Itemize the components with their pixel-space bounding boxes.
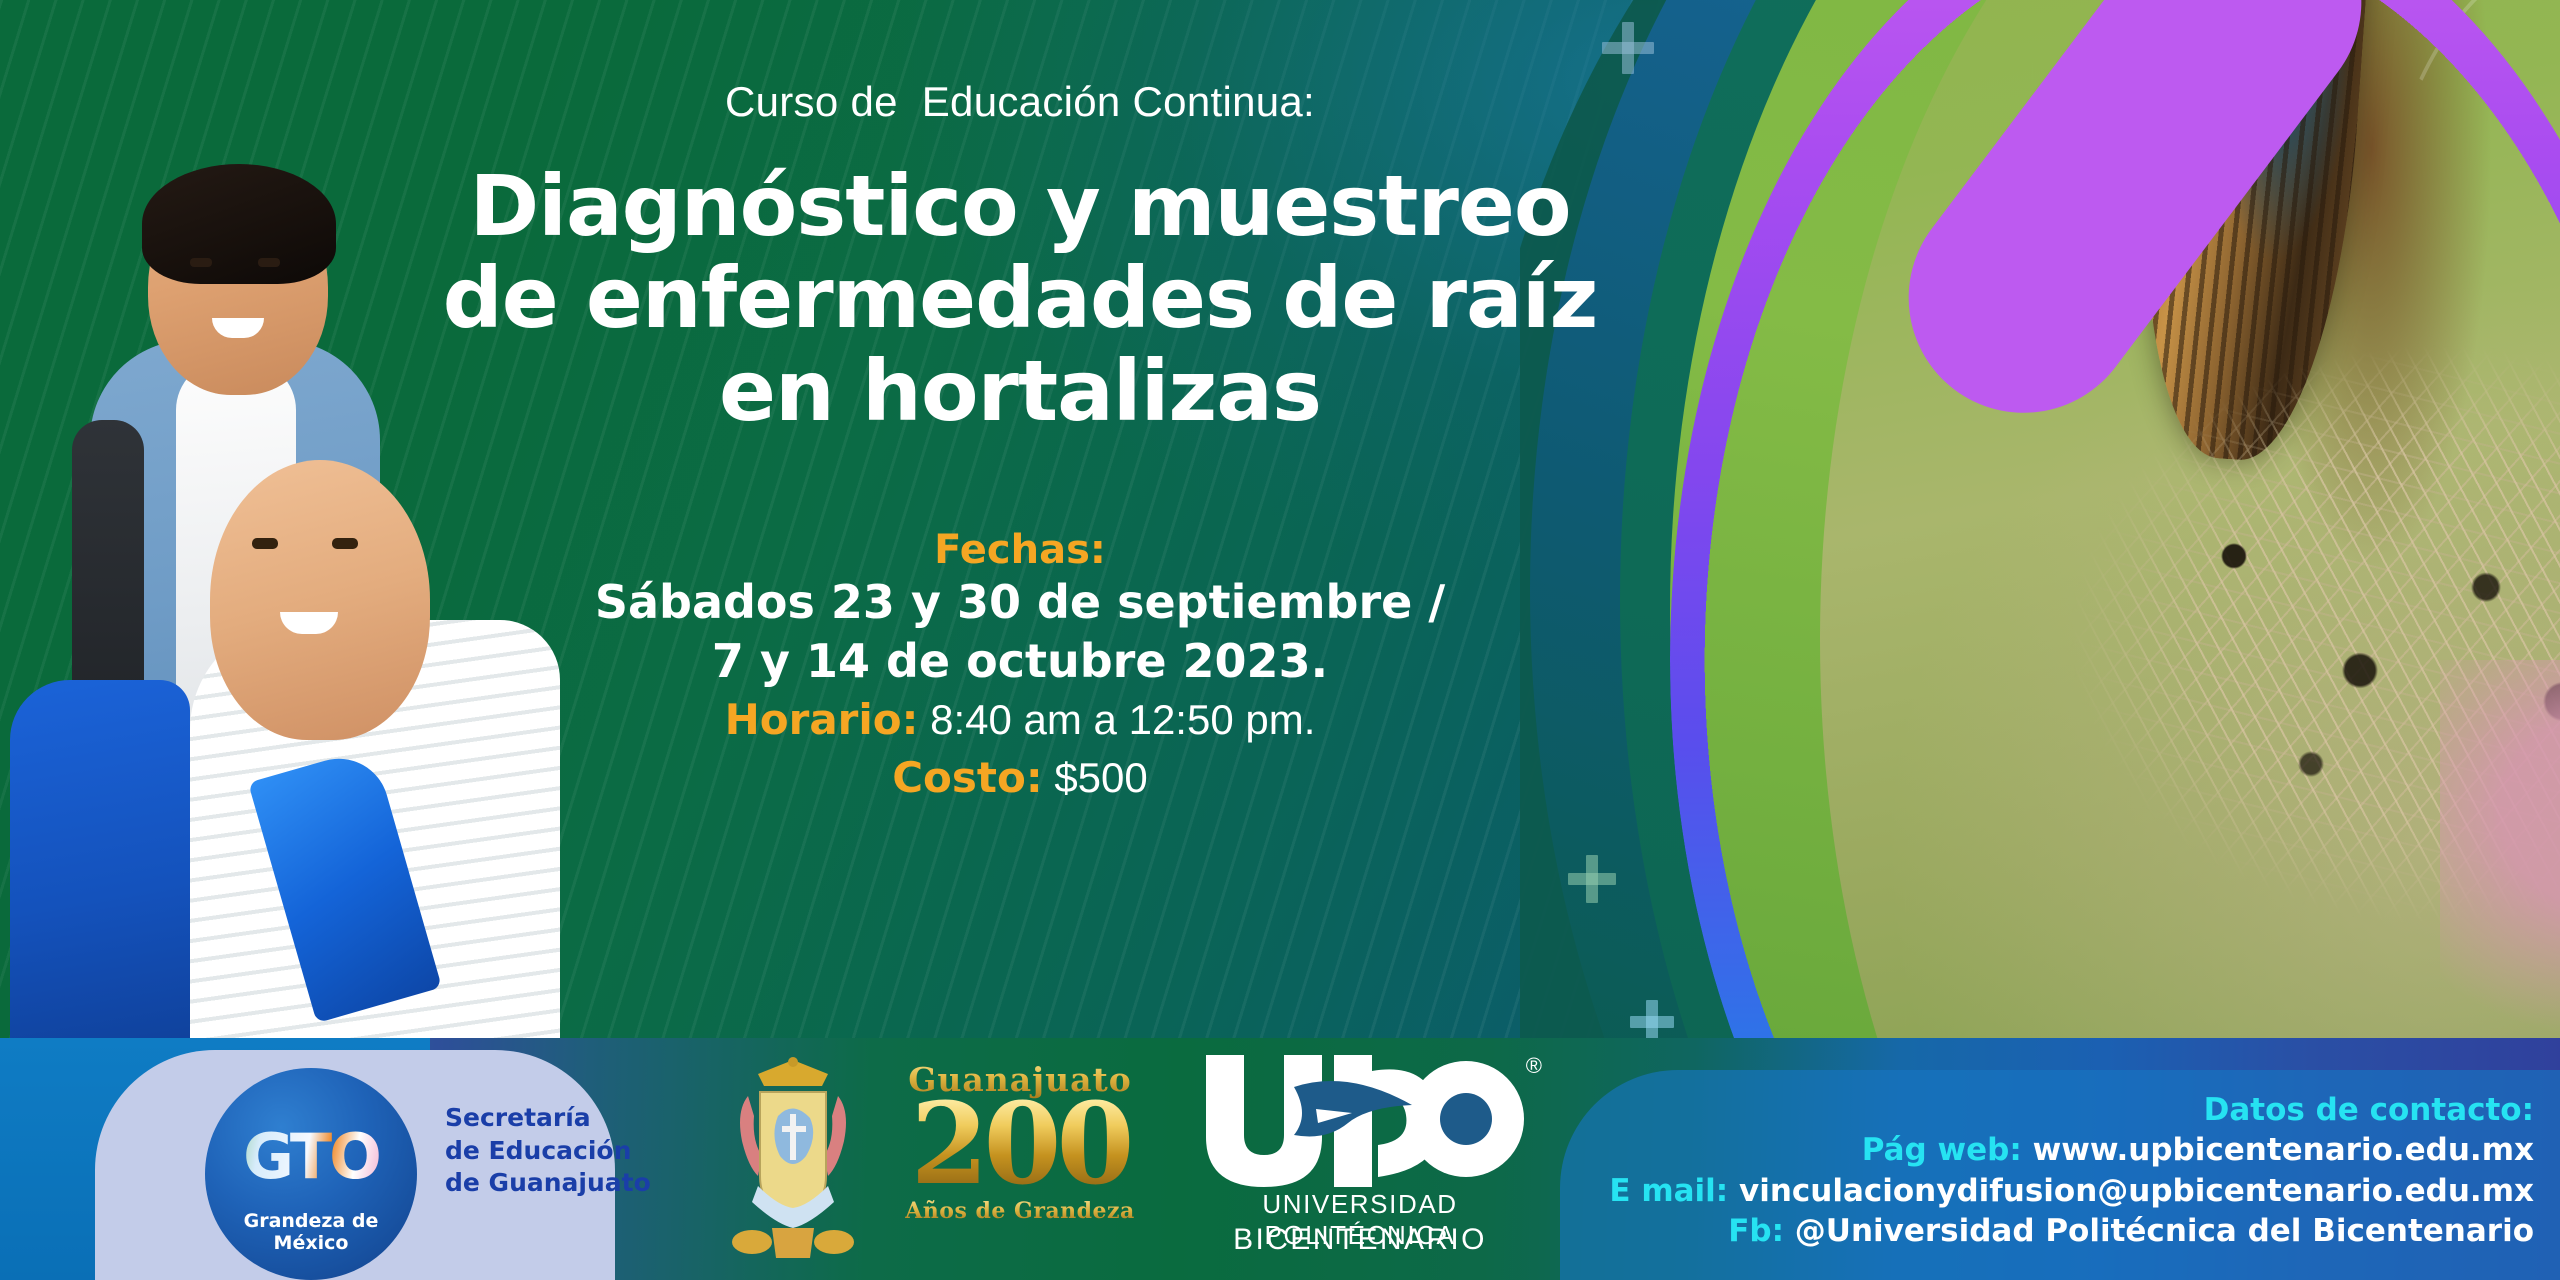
gto-logo-panel: GTO Grandeza de México Secretaríade Educ… (95, 1050, 615, 1280)
contact-fb-label: Fb: (1728, 1213, 1784, 1249)
contact-email-label: E mail: (1609, 1173, 1728, 1209)
costo-label: Costo: (892, 753, 1042, 802)
date-line-2: 7 y 14 de octubre 2023. (430, 632, 1610, 691)
gto-tagline: Grandeza de México (205, 1210, 417, 1254)
student-female-face (210, 460, 430, 740)
costo-row: Costo: $500 (430, 749, 1610, 807)
horario-value: 8:40 am a 12:50 pm. (930, 696, 1315, 743)
costo-value: $500 (1054, 754, 1147, 801)
gto-wordmark: GTO (205, 1120, 417, 1193)
guanajuato-200-emblem: Guanajuato 200 Años de Grandeza (700, 1038, 1170, 1280)
student-female-backpack (10, 680, 190, 1070)
upb-mark-icon (1198, 1051, 1528, 1191)
secretaria-label: Secretaríade Educaciónde Guanajuato (445, 1102, 685, 1200)
footer-bar: GTO Grandeza de México Secretaríade Educ… (0, 1038, 2560, 1280)
contact-panel: Datos de contacto: Pág web: www.upbicent… (1560, 1070, 2560, 1280)
main-content: Curso de Educación Continua: Diagnóstico… (430, 0, 1610, 1060)
contact-fb-row: Fb: @Universidad Politécnica del Bicente… (1560, 1211, 2534, 1251)
horario-label: Horario: (725, 695, 919, 744)
promotional-banner: Curso de Educación Continua: Diagnóstico… (0, 0, 2560, 1280)
horario-row: Horario: 8:40 am a 12:50 pm. (430, 691, 1610, 749)
student-female-eye-right (332, 538, 358, 549)
contact-title: Datos de contacto: (1560, 1090, 2534, 1130)
fechas-label: Fechas: (430, 527, 1610, 573)
contact-web-value[interactable]: www.upbicentenario.edu.mx (2033, 1132, 2534, 1168)
registered-trademark-icon: ® (1526, 1053, 1542, 1079)
contact-web-label: Pág web: (1862, 1132, 2022, 1168)
title-line-3: en hortalizas (430, 345, 1610, 437)
eyebrow-text: Curso de Educación Continua: (430, 78, 1610, 126)
student-female-eye-left (252, 538, 278, 549)
student-male-hair (142, 164, 336, 284)
title-line-2: de enfermedades de raíz (430, 252, 1610, 344)
contact-email-value[interactable]: vinculacionydifusion@upbicentenario.edu.… (1739, 1173, 2534, 1209)
student-male-eye-right (258, 258, 280, 267)
upb-line-2: BICENTENARIO (1180, 1223, 1540, 1257)
guanajuato-200-bottom-label: Años de Grandeza (875, 1198, 1165, 1224)
page-title: Diagnóstico y muestreo de enfermedades d… (430, 160, 1610, 437)
date-line-1: Sábados 23 y 30 de septiembre / (430, 573, 1610, 632)
upb-logo: ® UNIVERSIDAD POLITÉCNICA BICENTENARIO (1180, 1051, 1540, 1266)
gto-circle-icon: GTO Grandeza de México (205, 1068, 417, 1280)
guanajuato-200-text: Guanajuato 200 Años de Grandeza (875, 1060, 1165, 1224)
student-male-eye-left (190, 258, 212, 267)
contact-fb-value[interactable]: @Universidad Politécnica del Bicentenari… (1795, 1213, 2534, 1249)
title-line-1: Diagnóstico y muestreo (430, 160, 1610, 252)
contact-web-row: Pág web: www.upbicentenario.edu.mx (1560, 1130, 2534, 1170)
guanajuato-200-number: 200 (875, 1095, 1165, 1196)
contact-email-row: E mail: vinculacionydifusion@upbicentena… (1560, 1171, 2534, 1211)
coat-of-arms-icon (718, 1056, 868, 1266)
